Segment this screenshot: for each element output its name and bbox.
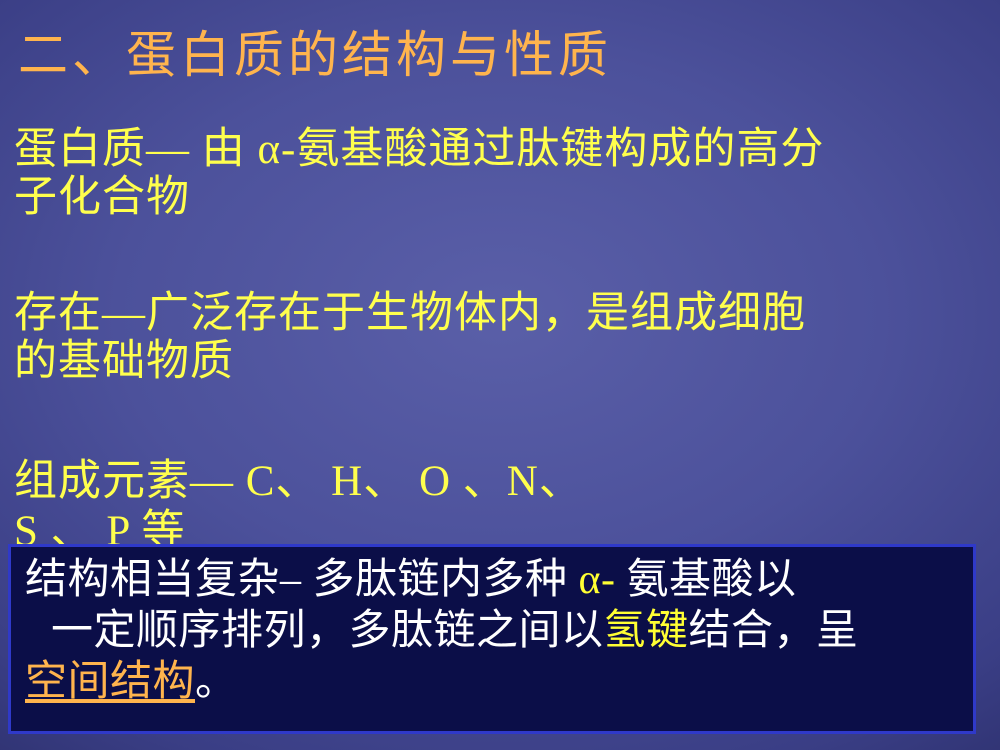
callout-line-2-text-a: 一定顺序排列，多肽链之间以: [51, 608, 604, 654]
paragraph-occurrence-line-2: 的基础物质: [14, 338, 994, 386]
callout-line-1-text-a: 结构相当复杂– 多肽链内多种: [25, 557, 579, 603]
callout-line-3-text-b: 。: [195, 659, 238, 705]
callout-line-2: 一定顺序排列，多肽链之间以氢键结合，呈: [25, 606, 963, 657]
paragraph-elements-line-1: 组成元素— C、 H、 O 、N、: [14, 458, 994, 506]
paragraph-definition: 蛋白质— 由 α-氨基酸通过肽键构成的高分 子化合物: [14, 126, 994, 222]
slide-canvas: 二、蛋白质的结构与性质 蛋白质— 由 α-氨基酸通过肽键构成的高分 子化合物 存…: [0, 0, 1000, 750]
paragraph-occurrence-line-1: 存在—广泛存在于生物体内，是组成细胞: [14, 290, 994, 338]
paragraph-definition-line-1: 蛋白质— 由 α-氨基酸通过肽键构成的高分: [14, 126, 994, 174]
paragraph-elements: 组成元素— C、 H、 O 、N、 S 、 P 等: [14, 458, 994, 556]
callout-alpha-highlight: α-: [579, 557, 616, 603]
callout-line-3: 空间结构。: [25, 657, 963, 708]
callout-spatial-structure-highlight: 空间结构: [25, 659, 195, 705]
callout-box: 结构相当复杂– 多肽链内多种 α- 氨基酸以 一定顺序排列，多肽链之间以氢键结合…: [8, 544, 976, 734]
callout-hydrogen-bond-highlight: 氢键: [604, 608, 689, 654]
paragraph-definition-line-2: 子化合物: [14, 174, 994, 222]
callout-line-2-text-b: 结合，呈: [689, 608, 859, 654]
paragraph-occurrence: 存在—广泛存在于生物体内，是组成细胞 的基础物质: [14, 290, 994, 386]
slide-title: 二、蛋白质的结构与性质: [18, 28, 612, 83]
callout-line-1-text-b: 氨基酸以: [616, 557, 797, 603]
callout-line-1: 结构相当复杂– 多肽链内多种 α- 氨基酸以: [25, 555, 963, 606]
